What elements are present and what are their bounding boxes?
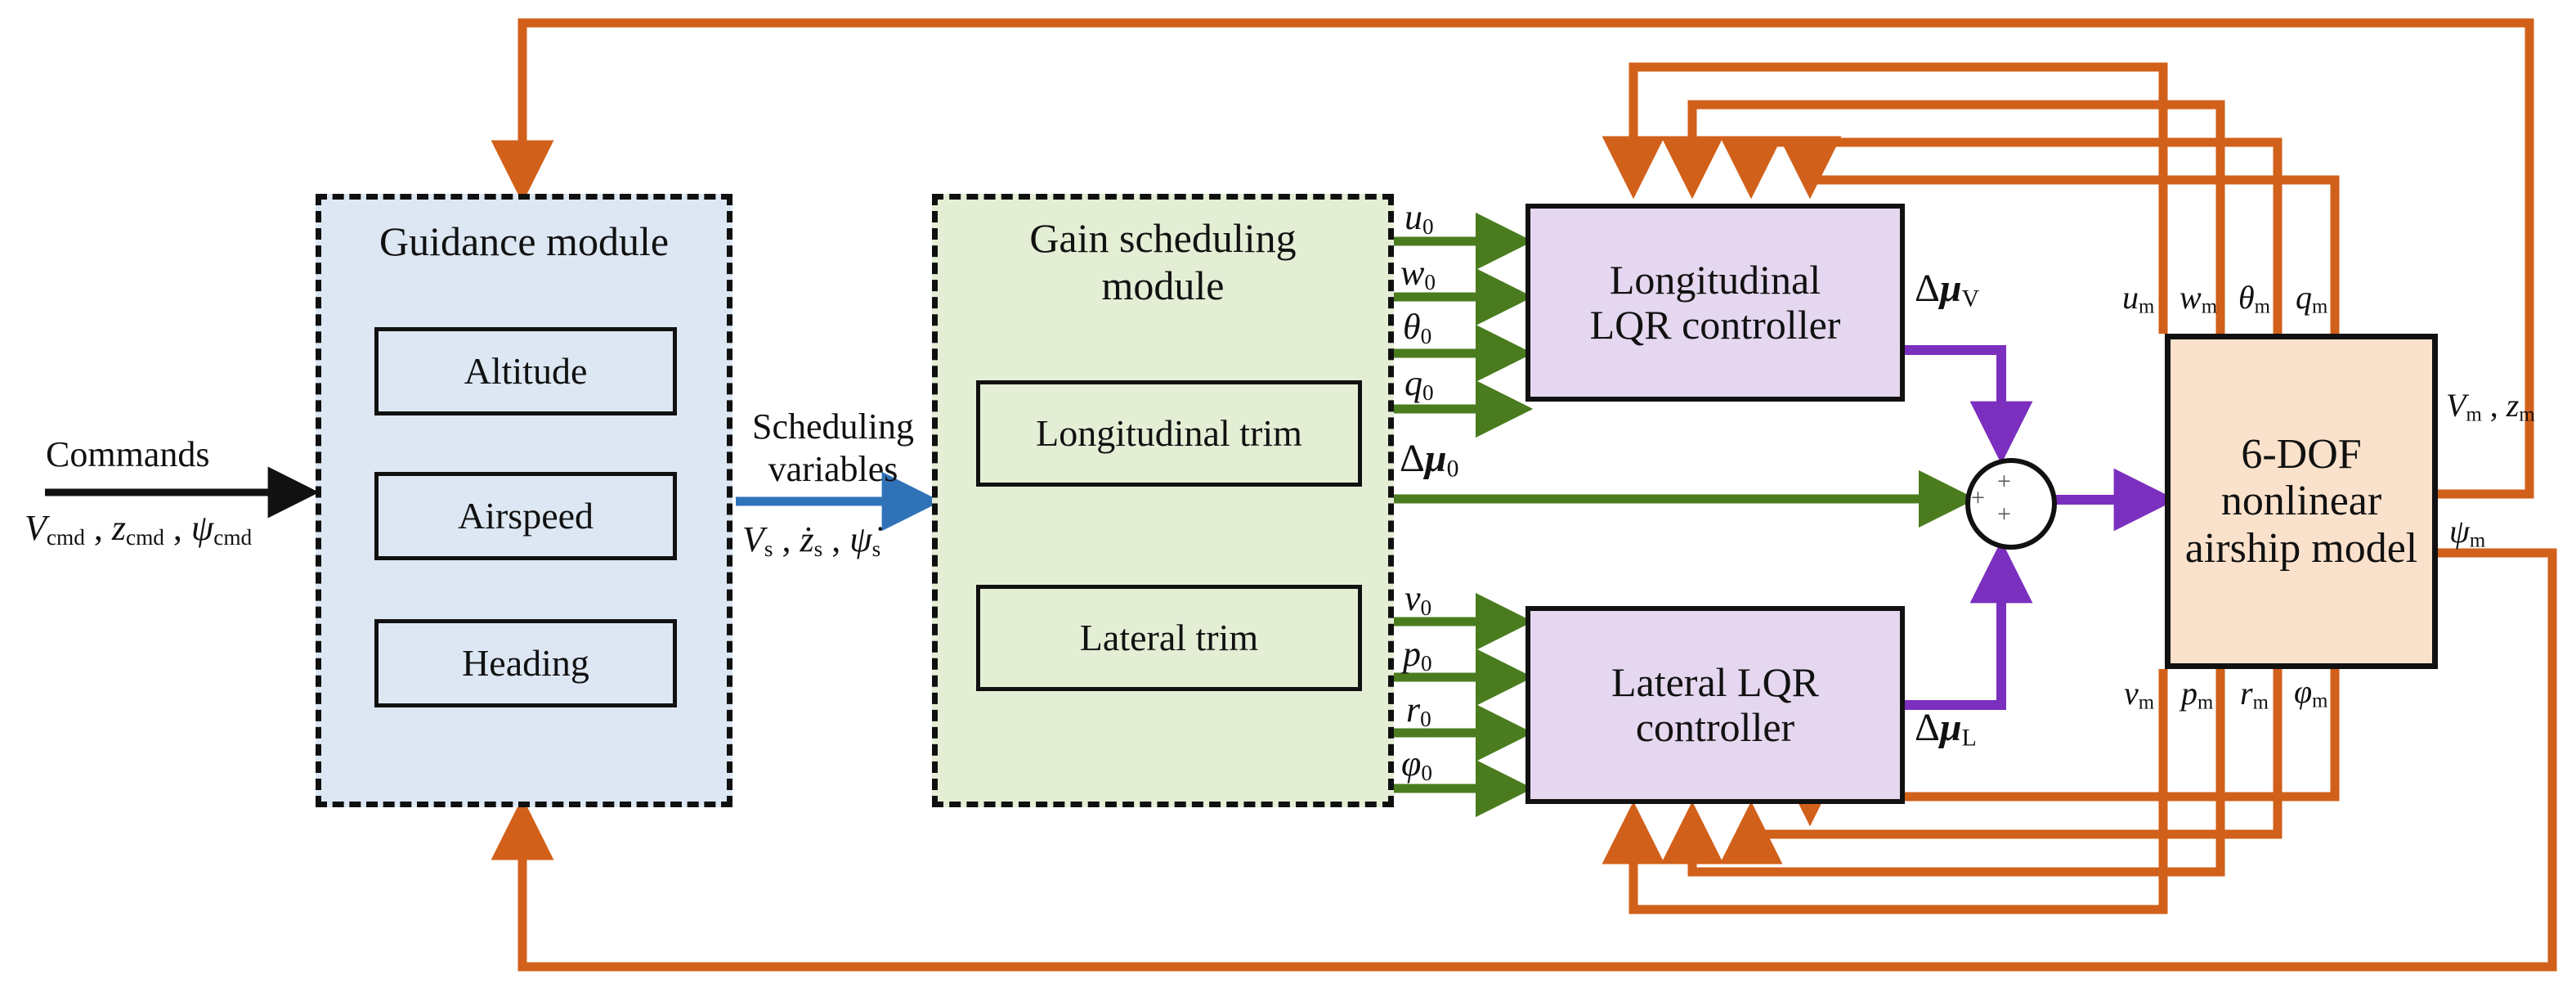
- delta-mu-l-label: ΔμL: [1915, 705, 1977, 752]
- plant-state-um: um: [2122, 278, 2154, 318]
- trim-label-v0: v0: [1404, 577, 1431, 621]
- delta-mu-v-label: ΔμV: [1915, 266, 1979, 313]
- trim-label-phi0: φ0: [1401, 743, 1432, 786]
- longitudinal-lqr-controller[interactable]: Longitudinal LQR controller: [1525, 204, 1905, 402]
- scheduling-label-line2: variables: [737, 448, 929, 490]
- gain-module-title-line1: Gain scheduling: [938, 216, 1388, 261]
- sum-sign-left: +: [1971, 484, 1985, 512]
- lateral-ctrl-line2: controller: [1636, 705, 1794, 750]
- scheduling-label-line1: Scheduling: [737, 406, 929, 447]
- trim-label-u0: u0: [1404, 196, 1434, 240]
- scheduling-signals-label: Vs , żs , ψ̇s: [742, 519, 880, 562]
- plant-state-vm: vm: [2124, 674, 2154, 714]
- guidance-module-title: Guidance module: [321, 219, 727, 264]
- plant-line3: airship model: [2185, 525, 2418, 572]
- plant-state-thetam: θm: [2238, 278, 2270, 318]
- longitudinal-ctrl-line1: Longitudinal: [1610, 258, 1821, 303]
- trim-label-w0: w0: [1400, 252, 1436, 295]
- sum-sign-top: +: [1997, 468, 2011, 496]
- commands-label: Commands: [46, 433, 209, 475]
- lateral-lqr-controller[interactable]: Lateral LQR controller: [1525, 606, 1905, 804]
- plant-line1: 6-DOF: [2241, 431, 2361, 478]
- wire-delta-mu-v: [1905, 350, 2001, 452]
- guidance-item-altitude[interactable]: Altitude: [374, 327, 677, 415]
- plant-state-phim: φm: [2294, 672, 2327, 712]
- plant-state-wm: wm: [2180, 278, 2217, 318]
- sum-sign-bottom: +: [1997, 501, 2011, 528]
- plant-output-psim: ψm: [2449, 512, 2485, 552]
- block-diagram-canvas: Guidance module Altitude Airspeed Headin…: [0, 0, 2576, 997]
- gain-item-lateral-trim[interactable]: Lateral trim: [976, 585, 1362, 691]
- lateral-ctrl-line1: Lateral LQR: [1611, 660, 1819, 705]
- plant-state-pm: pm: [2181, 674, 2213, 714]
- trim-label-r0: r0: [1406, 689, 1431, 732]
- gain-module-title-line2: module: [938, 263, 1388, 308]
- trim-label-q0: q0: [1404, 362, 1434, 406]
- trim-label-theta0: θ0: [1403, 306, 1431, 349]
- plant-line2: nonlinear: [2221, 478, 2381, 524]
- guidance-item-airspeed[interactable]: Airspeed: [374, 472, 677, 560]
- plant-state-rm: rm: [2240, 674, 2269, 714]
- baseline-control-label: Δμ0: [1400, 436, 1458, 483]
- gain-scheduling-module[interactable]: Gain scheduling module: [932, 194, 1394, 807]
- airship-plant-model[interactable]: 6-DOF nonlinear airship model: [2165, 334, 2438, 669]
- command-signals-label: Vcmd , zcmd , ψcmd: [25, 507, 252, 550]
- plant-output-vm-zm: Vm , zm: [2446, 386, 2535, 426]
- guidance-item-heading[interactable]: Heading: [374, 619, 677, 707]
- trim-label-p0: p0: [1403, 633, 1432, 676]
- longitudinal-ctrl-line2: LQR controller: [1590, 303, 1841, 348]
- wire-delta-mu-l: [1905, 552, 2001, 705]
- plant-state-qm: qm: [2296, 278, 2327, 318]
- gain-item-longitudinal-trim[interactable]: Longitudinal trim: [976, 380, 1362, 487]
